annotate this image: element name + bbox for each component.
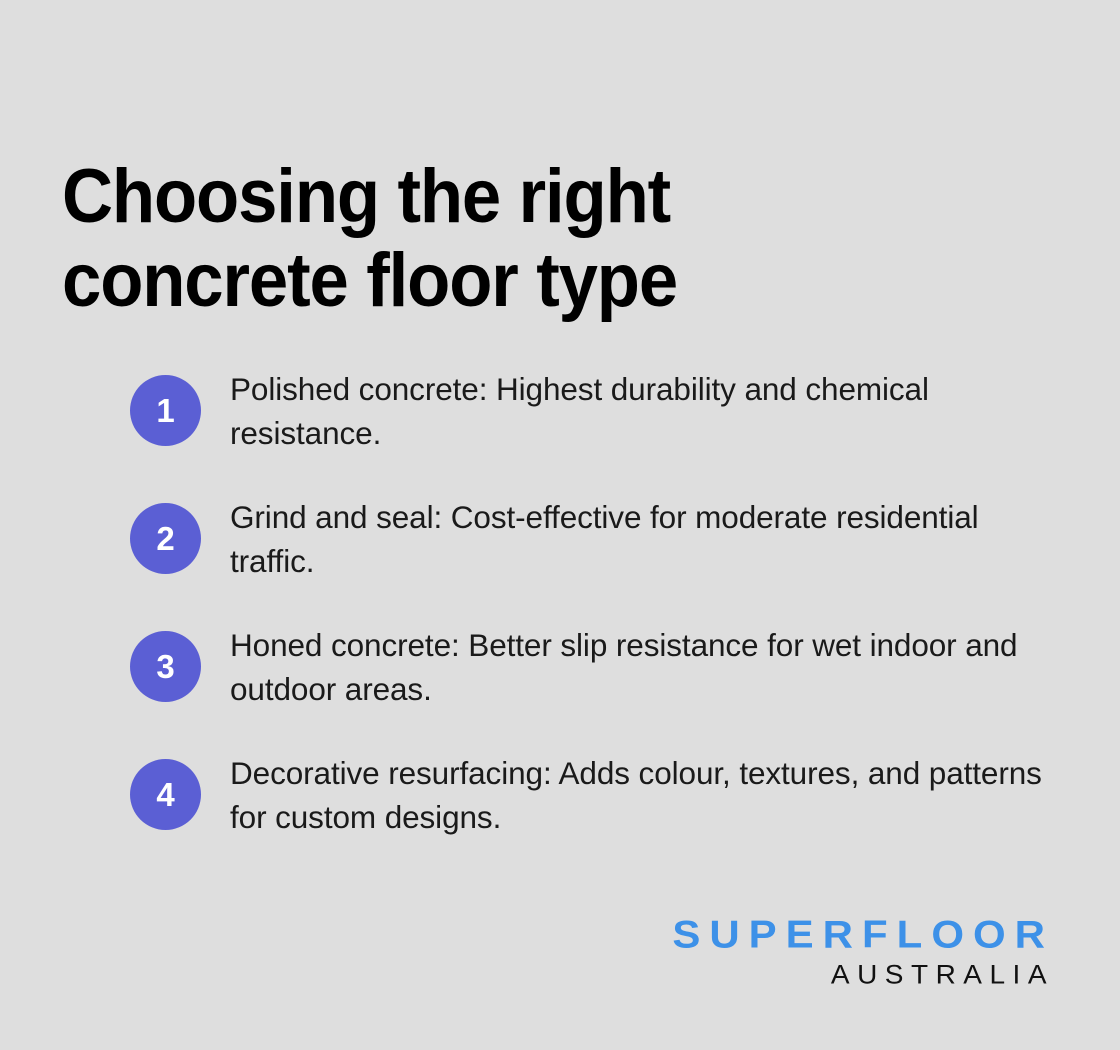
list-item-text-1: Polished concrete: Highest durability an… [230,367,1045,455]
page-title: Choosing the right concrete floor type [62,155,955,323]
list-item: 4 Decorative resurfacing: Adds colour, t… [130,751,1060,879]
brand-logo-secondary: AUSTRALIA [672,960,1056,990]
numbered-list: 1 Polished concrete: Highest durability … [130,367,1060,879]
list-item-text-3: Honed concrete: Better slip resistance f… [230,623,1045,711]
list-item-badge-3: 3 [130,631,201,702]
brand-logo-primary: SUPERFLOOR [672,915,1056,955]
list-item-badge-1: 1 [130,375,201,446]
list-item-text-4: Decorative resurfacing: Adds colour, tex… [230,751,1045,839]
list-item-badge-4: 4 [130,759,201,830]
list-item: 2 Grind and seal: Cost-effective for mod… [130,495,1060,623]
list-item: 1 Polished concrete: Highest durability … [130,367,1060,495]
list-item-badge-2: 2 [130,503,201,574]
list-item-text-2: Grind and seal: Cost-effective for moder… [230,495,1045,583]
list-item: 3 Honed concrete: Better slip resistance… [130,623,1060,751]
brand-logo: SUPERFLOOR AUSTRALIA [672,911,1056,990]
infographic-canvas: Choosing the right concrete floor type 1… [0,0,1120,1050]
